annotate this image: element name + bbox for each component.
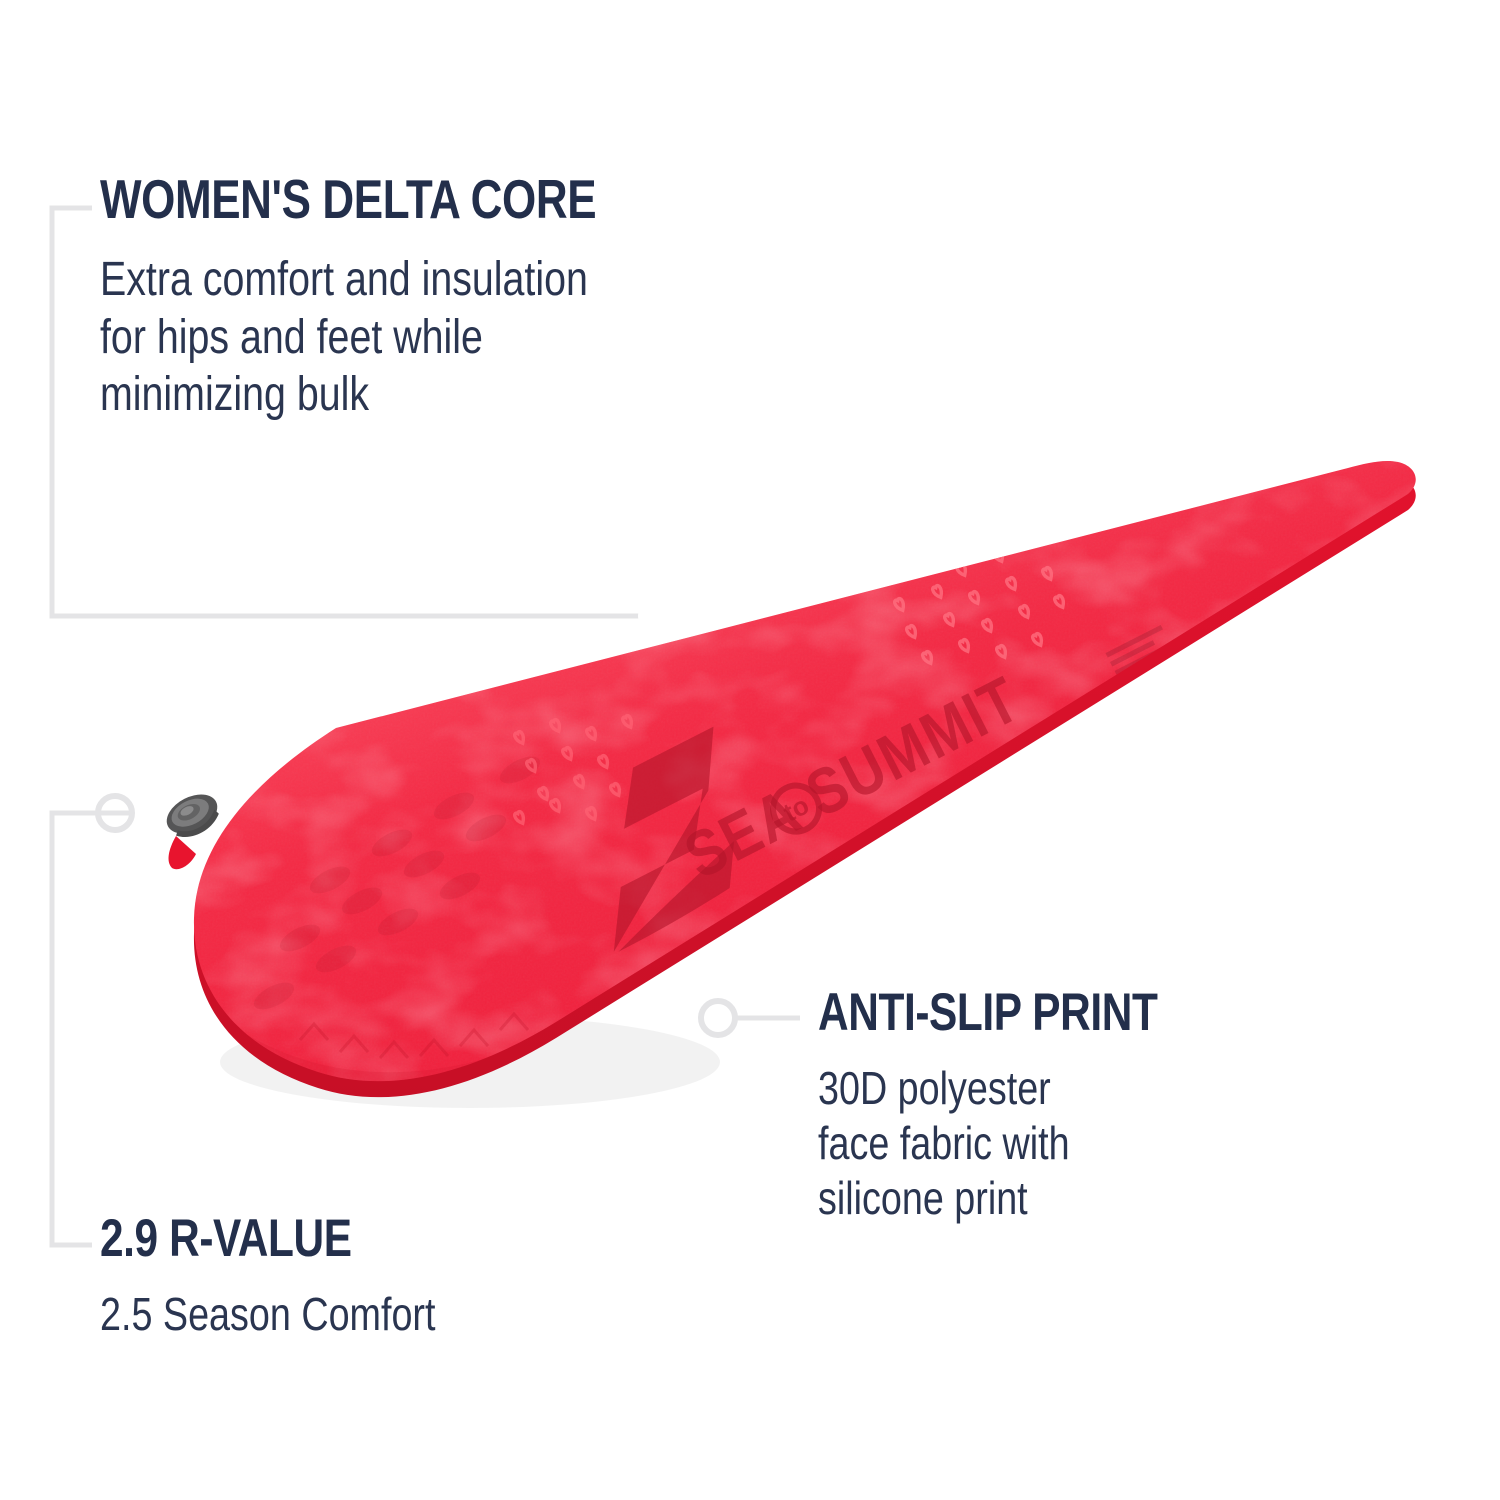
- callout-core-body-line-2: for hips and feet while: [100, 309, 609, 367]
- callout-antislip-title: ANTI-SLIP PRINT: [818, 986, 1158, 1039]
- callout-r-value: 2.9 R-VALUE 2.5 Season Comfort: [100, 1212, 509, 1342]
- callout-rvalue-body-line-1: 2.5 Season Comfort: [100, 1287, 435, 1342]
- callout-rvalue-title: 2.9 R-VALUE: [100, 1212, 427, 1265]
- marker-antislip[interactable]: [701, 1001, 735, 1035]
- marker-core[interactable]: [641, 599, 675, 633]
- callout-core-body-line-1: Extra comfort and insulation: [100, 251, 609, 309]
- callout-antislip-body: 30D polyester face fabric with silicone …: [818, 1061, 1166, 1227]
- callout-antislip-body-line-3: silicone print: [818, 1171, 1166, 1226]
- callout-core-title: WOMEN'S DELTA CORE: [100, 172, 596, 227]
- callout-womens-delta-core: WOMEN'S DELTA CORE Extra comfort and ins…: [100, 172, 720, 424]
- callout-antislip-body-line-1: 30D polyester: [818, 1061, 1166, 1116]
- leader-line-rvalue: [52, 813, 133, 1245]
- callout-core-body: Extra comfort and insulation for hips an…: [100, 251, 609, 424]
- infographic-canvas: SEA to SUMMIT: [0, 0, 1500, 1500]
- callout-antislip-body-line-2: face fabric with: [818, 1116, 1166, 1171]
- callout-anti-slip-print: ANTI-SLIP PRINT 30D polyester face fabri…: [818, 986, 1242, 1227]
- callout-core-body-line-3: minimizing bulk: [100, 366, 609, 424]
- callout-rvalue-body: 2.5 Season Comfort: [100, 1287, 435, 1342]
